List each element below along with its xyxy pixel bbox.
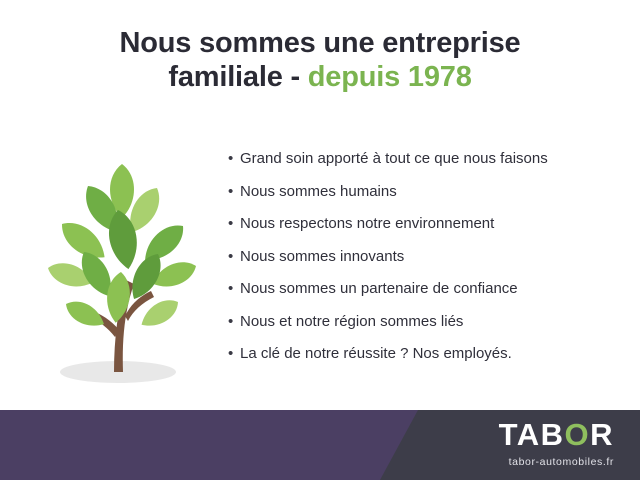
bullet-marker-icon: •	[228, 311, 240, 332]
list-item-label: Nous respectons notre environnement	[240, 213, 494, 234]
title-line-1: Nous sommes une entreprise	[0, 26, 640, 60]
title-line-2-prefix: familiale -	[168, 61, 300, 93]
bullet-marker-icon: •	[228, 278, 240, 299]
list-item: • La clé de notre réussite ? Nos employé…	[228, 343, 628, 364]
list-item: • Nous respectons notre environnement	[228, 213, 628, 234]
list-item: • Nous sommes humains	[228, 181, 628, 202]
bullet-list: • Grand soin apporté à tout ce que nous …	[228, 148, 628, 376]
list-item-label: Nous sommes un partenaire de confiance	[240, 278, 518, 299]
tree-leaves	[45, 164, 200, 333]
list-item: • Nous sommes un partenaire de confiance	[228, 278, 628, 299]
bullet-marker-icon: •	[228, 213, 240, 234]
list-item-label: Nous et notre région sommes liés	[240, 311, 463, 332]
tree-icon	[18, 148, 228, 393]
list-item-label: Nous sommes humains	[240, 181, 397, 202]
list-item-label: La clé de notre réussite ? Nos employés.	[240, 343, 512, 364]
brand-part-2: R	[590, 417, 614, 452]
list-item: • Grand soin apporté à tout ce que nous …	[228, 148, 628, 169]
brand-logo: TABOR	[499, 419, 614, 450]
bullet-marker-icon: •	[228, 246, 240, 267]
bullet-marker-icon: •	[228, 181, 240, 202]
bullet-marker-icon: •	[228, 148, 240, 169]
page-title: Nous sommes une entreprise familiale - d…	[0, 26, 640, 94]
bullet-marker-icon: •	[228, 343, 240, 364]
tree-illustration	[18, 148, 228, 393]
title-line-2: familiale - depuis 1978	[0, 60, 640, 94]
list-item: • Nous et notre région sommes liés	[228, 311, 628, 332]
slide-canvas: Nous sommes une entreprise familiale - d…	[0, 0, 640, 480]
brand-part-1: TAB	[499, 417, 565, 452]
list-item-label: Grand soin apporté à tout ce que nous fa…	[240, 148, 548, 169]
title-accent-year: depuis 1978	[308, 61, 472, 93]
brand-website: tabor-automobiles.fr	[509, 457, 614, 468]
list-item-label: Nous sommes innovants	[240, 246, 404, 267]
list-item: • Nous sommes innovants	[228, 246, 628, 267]
brand-accent-letter: O	[564, 417, 590, 452]
footer-bar: TABOR tabor-automobiles.fr	[0, 410, 640, 480]
